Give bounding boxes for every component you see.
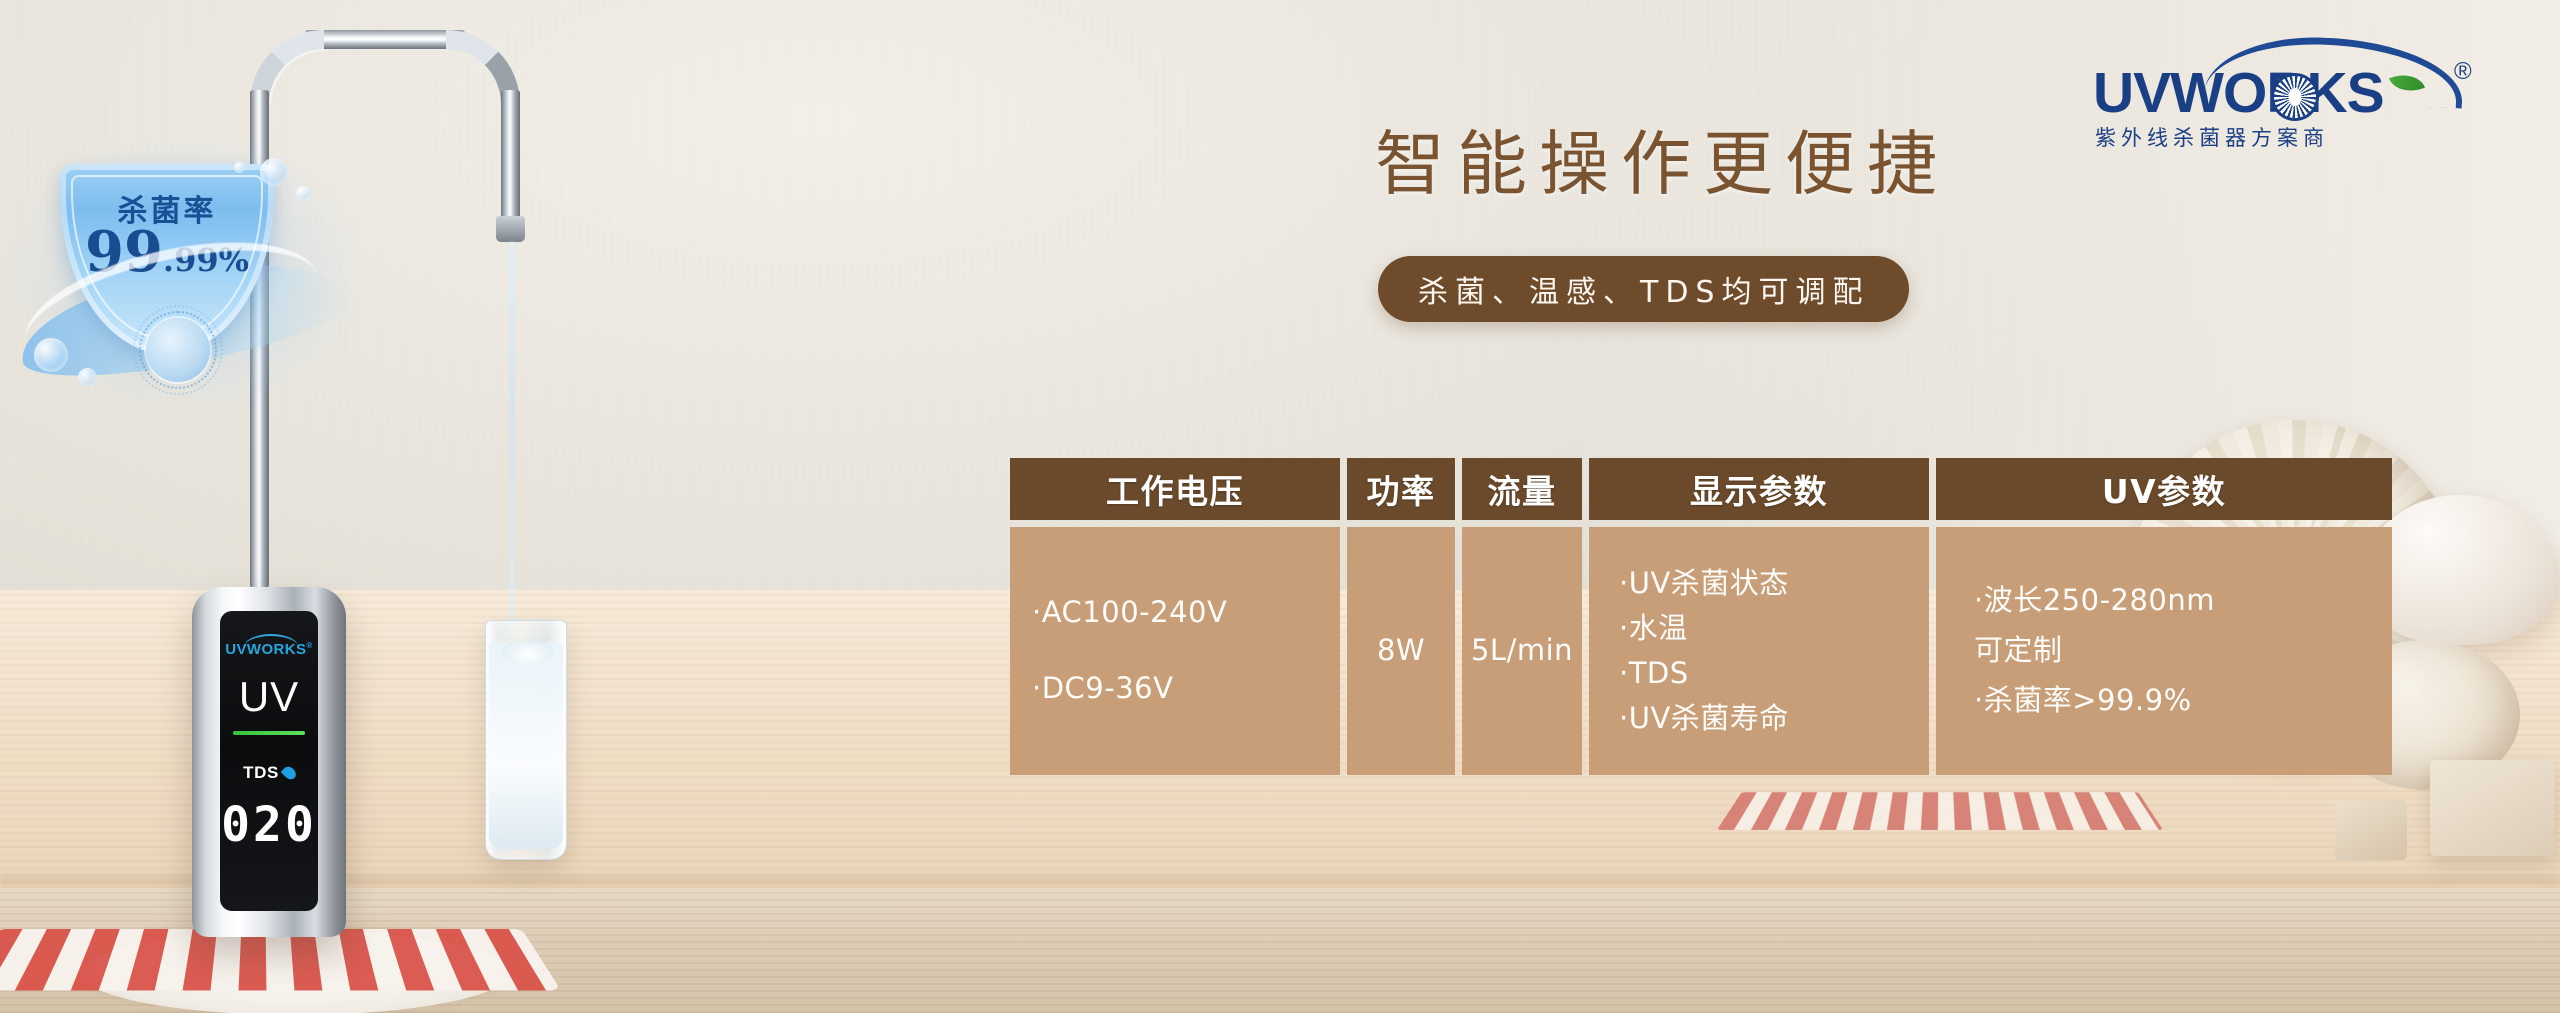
display-logo-arc-icon (244, 634, 298, 647)
spec-line: ·UV杀菌寿命 (1619, 696, 1789, 741)
spec-table: 工作电压 ·AC100-240V ·DC9-36V 功率 8W 流量 5L/mi… (1010, 458, 2392, 775)
spec-cell: ·波长250-280nm 可定制 ·杀菌率>99.9% (1936, 527, 2392, 775)
bubble-icon (234, 162, 245, 173)
feature-pill: 杀菌、温感、TDS均可调配 (1378, 256, 1909, 322)
sunburst-icon (2274, 76, 2316, 118)
spec-column-flow: 流量 5L/min (1462, 458, 1582, 775)
brand-name: UVWORKS (2093, 60, 2453, 126)
germ-icon (146, 318, 210, 382)
display-status-bar (233, 731, 305, 735)
spec-column-power: 功率 8W (1347, 458, 1455, 775)
sunburst-core (2289, 88, 2302, 106)
spec-line: 8W (1377, 624, 1425, 678)
faucet-nozzle (496, 216, 525, 242)
spec-cell: ·UV杀菌状态 ·水温 ·TDS ·UV杀菌寿命 (1589, 527, 1929, 775)
faucet-horizontal-pipe (305, 30, 465, 49)
display-metric-value: 020 (220, 797, 318, 853)
brand-logo[interactable]: UVWORKS ® 紫外线杀菌器方案商 (2093, 38, 2493, 158)
wood-block-small-prop (2335, 800, 2407, 860)
spec-header: 功率 (1347, 458, 1455, 520)
spec-cell: ·AC100-240V ·DC9-36V (1010, 527, 1340, 775)
wood-block-prop (2430, 760, 2555, 856)
sterilization-rate-badge: 杀菌率 99.99% (28, 150, 338, 400)
bubble-icon (260, 158, 288, 186)
striped-cloth-prop (0, 929, 561, 990)
brand-tagline: 紫外线杀菌器方案商 (2095, 122, 2465, 152)
spec-column-uv: UV参数 ·波长250-280nm 可定制 ·杀菌率>99.9% (1936, 458, 2392, 775)
spec-line: ·波长250-280nm (1974, 576, 2215, 626)
display-mode-label: UV (220, 673, 318, 721)
water-drop-icon (281, 764, 299, 782)
feature-pill-label: 杀菌、温感、TDS均可调配 (1418, 267, 1869, 311)
water-stream (509, 242, 515, 632)
glass-water-fill (489, 643, 563, 849)
water-glass (485, 620, 567, 860)
display-metric-label: TDS (220, 763, 318, 783)
spec-line: ·AC100-240V (1032, 586, 1227, 640)
spec-cell: 8W (1347, 527, 1455, 775)
spec-line: 5L/min (1471, 624, 1573, 678)
glass-water-splash (502, 639, 554, 665)
spec-line: ·DC9-36V (1032, 662, 1173, 716)
display-metric-text: TDS (243, 763, 279, 782)
spec-header: 显示参数 (1589, 458, 1929, 520)
spec-header: 工作电压 (1010, 458, 1340, 520)
spec-header: UV参数 (1936, 458, 2392, 520)
spec-line: ·TDS (1619, 651, 1689, 696)
display-brand-logo: UVWORKS® (220, 641, 318, 658)
page-title: 智能操作更便捷 (1375, 108, 1949, 209)
spec-cell: 5L/min (1462, 527, 1582, 775)
brand-registered-mark: ® (2454, 58, 2472, 86)
spec-header: 流量 (1462, 458, 1582, 520)
spec-line: ·水温 (1619, 606, 1688, 651)
bubble-icon (296, 186, 311, 201)
spec-line: ·UV杀菌状态 (1619, 561, 1789, 606)
glass-body (485, 620, 567, 860)
spec-column-display: 显示参数 ·UV杀菌状态 ·水温 ·TDS ·UV杀菌寿命 (1589, 458, 1929, 775)
spec-line: 可定制 (1974, 626, 2063, 676)
display-logo-registered: ® (306, 641, 312, 650)
bubble-icon (78, 368, 97, 387)
bubble-icon (34, 338, 68, 372)
spec-line: ·杀菌率>99.9% (1974, 676, 2192, 726)
uv-sterilizer-device: UVWORKS® UV TDS 020 (192, 587, 346, 937)
product-banner-scene: UVWORKS® UV TDS 020 杀菌率 99.99% (0, 0, 2560, 1013)
striped-mat-prop (1717, 792, 2163, 830)
spec-column-voltage: 工作电压 ·AC100-240V ·DC9-36V (1010, 458, 1340, 775)
faucet-vertical-pipe-right (501, 90, 520, 220)
device-display-screen[interactable]: UVWORKS® UV TDS 020 (220, 611, 318, 911)
